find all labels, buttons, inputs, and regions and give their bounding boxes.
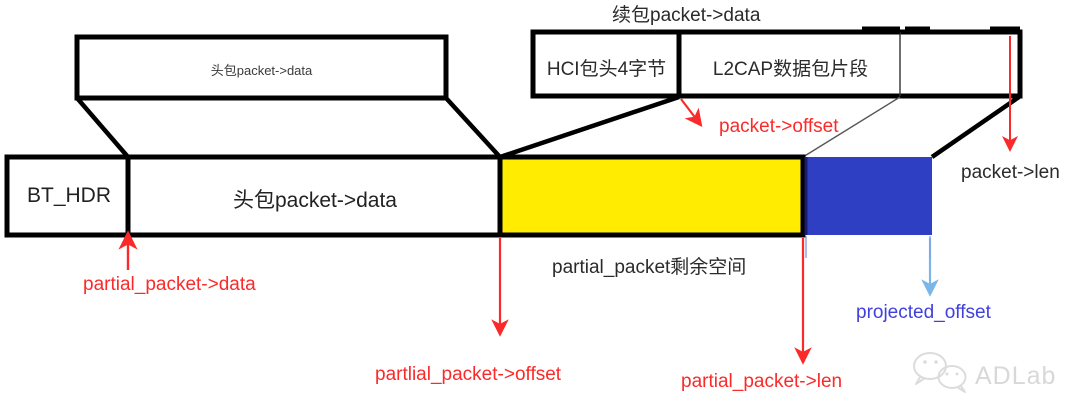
connector-topright-left — [500, 97, 679, 157]
top-right-segment-hci-header: HCI包头4字节 — [534, 54, 679, 81]
connector-topleft-left — [77, 98, 128, 157]
annotation-partial-packet-free-space: partial_packet剩余空间 — [552, 258, 746, 277]
annotation-partial-packet-offset: partlial_packet->offset — [375, 365, 561, 384]
top-left-box-label: 头包packet->data — [77, 60, 446, 79]
connector-topleft-right — [446, 98, 500, 157]
diagram-canvas: 头包packet->data 续包packet->data HCI包头4字节 L… — [0, 0, 1080, 415]
top-right-box-caption: 续包packet->data — [612, 6, 760, 25]
annotation-packet-len: packet->len — [961, 163, 1060, 182]
connector-topright-right — [932, 97, 1019, 157]
annotation-partial-packet-data: partial_packet->data — [83, 275, 256, 294]
main-bar-segment-yellow — [500, 157, 803, 235]
arrow-packet-offset — [681, 99, 697, 120]
main-bar-segment-blue — [803, 157, 932, 235]
annotation-projected-offset: projected_offset — [856, 303, 991, 322]
main-bar-label-bt-hdr: BT_HDR — [10, 184, 128, 208]
top-right-segment-l2cap-fragment: L2CAP数据包片段 — [681, 54, 900, 81]
annotation-packet-offset: packet->offset — [719, 117, 839, 136]
watermark-text: ADLab — [975, 362, 1056, 391]
main-bar-label-head-packet-data: 头包packet->data — [130, 184, 500, 214]
annotation-partial-packet-len: partial_packet->len — [681, 372, 842, 391]
